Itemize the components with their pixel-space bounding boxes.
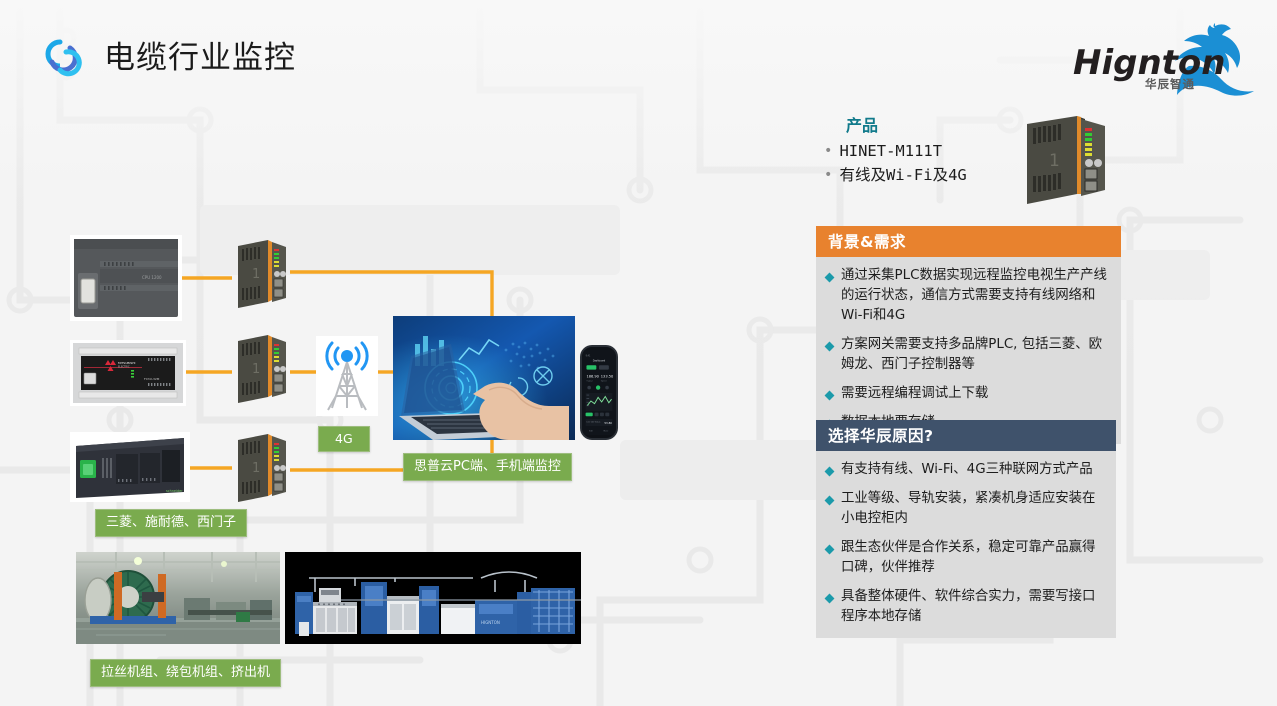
panel-title: 选择华辰原因?: [816, 420, 1116, 451]
svg-text:53.80: 53.80: [604, 421, 612, 425]
product-item-label: HINET-M111T: [839, 139, 942, 163]
bullet-item: 具备整体硬件、软件综合实力，需要写接口程序本地存储: [826, 587, 1106, 627]
diamond-bullet-icon: [825, 391, 835, 401]
svg-text:1: 1: [1049, 151, 1060, 171]
panel-body: 有支持有线、Wi-Fi、4G三种联网方式产品 工业等级、导轨安装，紧凑机身适应安…: [816, 451, 1116, 638]
smartphone-dashboard-image: 9:41 Dashboard 186.90 133.50 Output Spee…: [580, 345, 618, 440]
tag-factory-machines: 拉丝机组、绕包机组、挤出机: [90, 659, 281, 687]
svg-text:1: 1: [252, 362, 260, 377]
svg-text:Line 001 Status: Line 001 Status: [586, 420, 600, 423]
antelope-logo-icon: Hignton 华辰智通: [1069, 18, 1259, 96]
svg-text:186.90: 186.90: [586, 375, 599, 379]
bullet-text: 方案网关需要支持多品牌PLC, 包括三菱、欧姆龙、西门子控制器等: [841, 335, 1111, 375]
bullet-item: 工业等级、导轨安装，紧凑机身适应安装在小电控柜内: [826, 489, 1106, 529]
svg-text:More: More: [603, 429, 609, 432]
bullet-item: 方案网关需要支持多品牌PLC, 包括三菱、欧姆龙、西门子控制器等: [826, 335, 1111, 375]
bullet-item: 需要远程编程调试上下载: [826, 384, 1111, 404]
bullet-text: 工业等级、导轨安装，紧凑机身适应安装在小电控柜内: [841, 489, 1106, 529]
svg-text:HIGNTON: HIGNTON: [481, 620, 500, 625]
cable-drum-factory-photo: [76, 552, 280, 644]
bullet-text: 具备整体硬件、软件综合实力，需要写接口程序本地存储: [841, 587, 1106, 627]
tag-cloud-monitoring: 思普云PC端、手机端监控: [403, 453, 572, 481]
svg-text:Output: Output: [586, 379, 592, 382]
hinet-gateway-1-image: 1: [232, 236, 290, 312]
bullet-item: 通过采集PLC数据实现远程监控电视生产产线的运行状态，通信方式需要支持有线网络和…: [826, 266, 1111, 326]
schneider-plc-image: schneider: [70, 432, 190, 502]
bullet-text: 通过采集PLC数据实现远程监控电视生产产线的运行状态，通信方式需要支持有线网络和…: [841, 266, 1111, 326]
mitsubishi-plc-image: MITSUBISHI ELECTRIC FX3U-32M: [70, 340, 186, 406]
svg-text:9:41: 9:41: [586, 354, 591, 357]
hinet-gateway-3-image: 1: [232, 430, 290, 506]
slide-root: 电缆行业监控 Hignton 华辰智通 产品 • HINET-M111T • 有…: [0, 0, 1277, 706]
hinet-gateway-device-image: 1: [1015, 110, 1111, 210]
diamond-bullet-icon: [825, 594, 835, 604]
svg-text:ELECTRIC: ELECTRIC: [118, 366, 130, 369]
brand-subtitle: 华辰智通: [1145, 77, 1195, 91]
bullet-item: 有支持有线、Wi-Fi、4G三种联网方式产品: [826, 460, 1106, 480]
diamond-bullet-icon: [825, 496, 835, 506]
panel-body: 通过采集PLC数据实现远程监控电视生产产线的运行状态，通信方式需要支持有线网络和…: [816, 257, 1121, 444]
svg-text:Dashboard: Dashboard: [593, 360, 606, 363]
svg-text:FX3U-32M: FX3U-32M: [144, 377, 160, 381]
diamond-bullet-icon: [825, 342, 835, 352]
diamond-bullet-icon: [825, 273, 835, 283]
bullet-item: 跟生态伙伴是合作关系，稳定可靠产品赢得口碑，伙伴推荐: [826, 538, 1106, 578]
hinet-gateway-2-image: 1: [232, 331, 290, 407]
tag-4g: 4G: [318, 426, 370, 452]
panel-title: 背景&需求: [816, 226, 1121, 257]
bullet-text: 跟生态伙伴是合作关系，稳定可靠产品赢得口碑，伙伴推荐: [841, 538, 1106, 578]
tag-plc-brands: 三菱、施耐德、西门子: [95, 509, 247, 537]
svg-text:133.50: 133.50: [601, 375, 614, 379]
svg-text:CPU 1200: CPU 1200: [142, 275, 162, 280]
laptop-cloud-dashboard-image: [393, 316, 575, 440]
svg-text:1: 1: [252, 461, 260, 476]
svg-text:1: 1: [252, 267, 260, 282]
cell-tower-icon: [316, 336, 378, 416]
panel-background-requirements: 背景&需求 通过采集PLC数据实现远程监控电视生产产线的运行状态，通信方式需要支…: [816, 226, 1121, 444]
bullet-dot-icon: •: [824, 163, 832, 187]
panel-why-hignton: 选择华辰原因? 有支持有线、Wi-Fi、4G三种联网方式产品 工业等级、导轨安装…: [816, 420, 1116, 638]
svg-text:Edit: Edit: [589, 429, 593, 432]
svg-text:MITSUBISHI: MITSUBISHI: [118, 361, 136, 365]
extrusion-line-photo: HIGNTON: [285, 552, 581, 644]
svg-text:Speed: Speed: [601, 380, 607, 382]
siemens-plc-image: CPU 1200: [70, 235, 182, 321]
diamond-bullet-icon: [825, 467, 835, 477]
svg-text:schneider: schneider: [166, 489, 183, 493]
diamond-bullet-icon: [825, 545, 835, 555]
architecture-diagram: CPU 1200 MITSUBISHI ELECTRIC: [0, 0, 700, 706]
bullet-text: 需要远程编程调试上下载: [841, 384, 988, 404]
bullet-text: 有支持有线、Wi-Fi、4G三种联网方式产品: [841, 460, 1093, 480]
bullet-dot-icon: •: [824, 139, 832, 163]
product-item-label: 有线及Wi-Fi及4G: [839, 163, 966, 187]
